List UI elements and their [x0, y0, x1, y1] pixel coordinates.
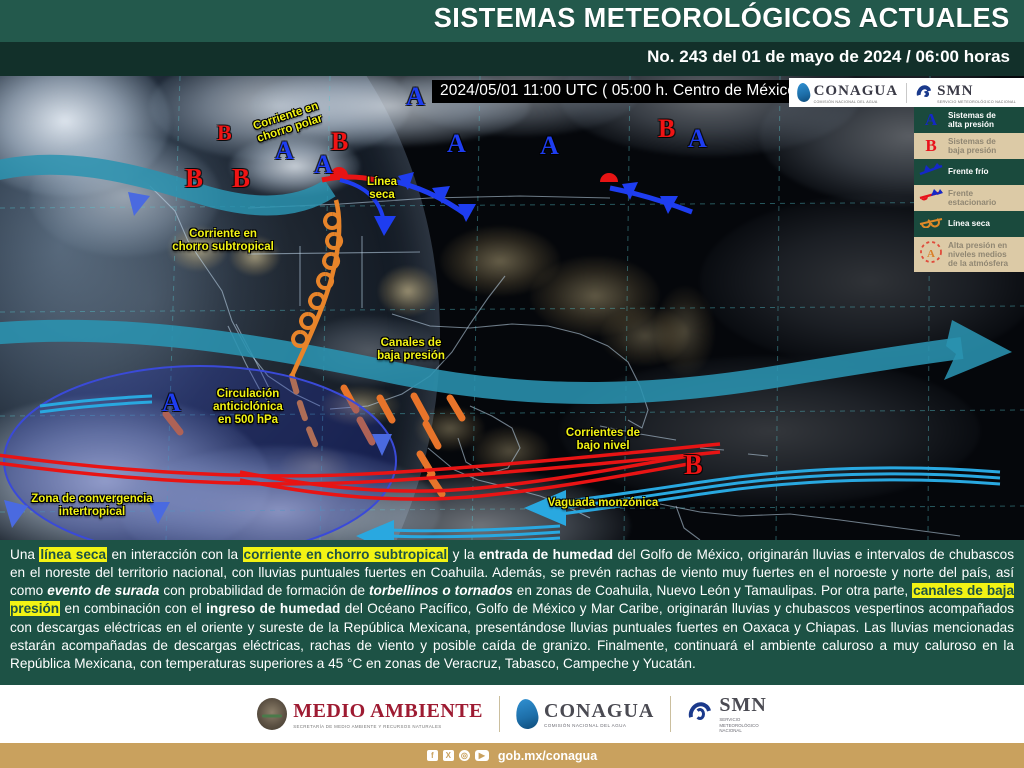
high-pressure-symbol: A	[314, 150, 333, 180]
high-pressure-symbol: A	[162, 388, 181, 418]
footer-smn-logo: SMN SERVICIO METEOROLÓGICO NACIONAL	[687, 694, 766, 734]
high-pressure-A-icon: A	[918, 110, 944, 130]
bulletin-number-date: No. 243 del 01 de mayo de 2024 / 06:00 h…	[647, 47, 1010, 67]
high-pressure-symbol: A	[275, 136, 294, 166]
low-level-currents-label: Corrientes de bajo nivel	[548, 427, 658, 453]
footer-smn-text: SMN	[719, 694, 766, 716]
mexican-eagle-icon	[257, 698, 287, 730]
legend-item-mid-level-high: A Alta presión en niveles medios de la a…	[914, 237, 1024, 272]
cold-front-icon	[918, 163, 944, 181]
high-pressure-symbol: A	[447, 129, 466, 159]
social-url-bar: f X ◎ ▶ gob.mx/conagua	[0, 743, 1024, 768]
cold-front-2	[610, 182, 692, 214]
high-pressure-symbol: A	[688, 124, 707, 154]
high-pressure-symbol: A	[540, 131, 559, 161]
conagua-logo-text: CONAGUA	[814, 83, 899, 99]
footer-conagua-logo: CONAGUA COMISIÓN NACIONAL DEL AGUA	[516, 699, 654, 729]
footer-divider	[670, 696, 671, 732]
low-pressure-symbol: B	[684, 450, 703, 482]
footer-smn-subtext: SERVICIO METEOROLÓGICO NACIONAL	[719, 717, 766, 734]
low-level-arrow-2	[356, 520, 394, 540]
smn-logo-text: SMN	[937, 83, 973, 99]
subtropical-jet-arrowhead	[944, 320, 1012, 380]
spiral-icon	[915, 83, 933, 103]
low-pressure-symbol: B	[331, 127, 348, 157]
x-twitter-icon[interactable]: X	[443, 750, 454, 761]
weather-bulletin-page: SISTEMAS METEOROLÓGICOS ACTUALES No. 243…	[0, 0, 1024, 768]
low-pressure-channels-label: Canales de baja presión	[356, 337, 466, 363]
instagram-icon[interactable]: ◎	[459, 750, 470, 761]
legend-item-cold-front: Frente frío	[914, 159, 1024, 185]
low-pressure-symbol: B	[232, 163, 250, 194]
low-pressure-B-icon: B	[918, 136, 944, 156]
map-vector-overlay	[0, 76, 1024, 540]
legend-label: Línea seca	[948, 219, 990, 228]
subtropical-jet-label: Corriente en chorro subtropical	[148, 228, 298, 254]
map-legend: A Sistemas de alta presión B Sistemas de…	[914, 107, 1024, 272]
mid-level-high-icon: A	[918, 240, 944, 269]
low-level-currents-2	[390, 526, 560, 540]
low-pressure-symbol: B	[658, 114, 675, 144]
monsoon-trough-label: Vaguada monzónica	[528, 497, 678, 510]
stationary-front-icon	[918, 189, 944, 207]
legend-label: Frente estacionario	[948, 189, 996, 207]
svg-text:A: A	[927, 248, 935, 260]
forecast-text-panel: Una línea seca en interacción con la cor…	[0, 540, 1024, 685]
footer-conagua-text: CONAGUA	[544, 700, 654, 722]
low-pressure-symbol: B	[185, 163, 203, 194]
legend-item-stationary-front: Frente estacionario	[914, 185, 1024, 211]
map-timestamp: 2024/05/01 11:00 UTC ( 05:00 h. Centro d…	[432, 80, 814, 103]
facebook-icon[interactable]: f	[427, 750, 438, 761]
legend-label: Sistemas de alta presión	[948, 111, 996, 129]
medio-ambiente-text: MEDIO AMBIENTE	[293, 700, 483, 722]
legend-item-dry-line: Línea seca	[914, 211, 1024, 237]
dry-line-label: Línea seca	[352, 176, 412, 202]
water-drop-icon	[795, 82, 811, 103]
high-pressure-symbol: A	[406, 82, 425, 112]
dry-line-icon	[918, 215, 944, 233]
legend-item-high-pressure: A Sistemas de alta presión	[914, 107, 1024, 133]
medio-ambiente-subtext: SECRETARÍA DE MEDIO AMBIENTE Y RECURSOS …	[293, 724, 483, 729]
footer-logo-bar: MEDIO AMBIENTE SECRETARÍA DE MEDIO AMBIE…	[0, 685, 1024, 743]
logo-divider	[906, 83, 907, 103]
legend-item-low-pressure: B Sistemas de baja presión	[914, 133, 1024, 159]
site-url[interactable]: gob.mx/conagua	[498, 749, 597, 763]
conagua-logo: CONAGUA COMISIÓN NACIONAL DEL AGUA	[797, 82, 899, 104]
anticyclone-arrow-n	[128, 192, 150, 216]
medio-ambiente-logo: MEDIO AMBIENTE SECRETARÍA DE MEDIO AMBIE…	[257, 698, 483, 730]
legend-label: Sistemas de baja presión	[948, 137, 996, 155]
legend-label: Alta presión en niveles medios de la atm…	[948, 241, 1008, 269]
youtube-icon[interactable]: ▶	[475, 750, 489, 761]
legend-label: Frente frío	[948, 167, 989, 176]
water-drop-icon	[514, 698, 540, 731]
footer-conagua-subtext: COMISIÓN NACIONAL DEL AGUA	[544, 723, 654, 728]
smn-logo: SMN SERVICIO METEOROLÓGICO NACIONAL	[915, 82, 1016, 104]
trough-arrowhead	[374, 216, 396, 236]
map-logo-bar: CONAGUA COMISIÓN NACIONAL DEL AGUA SMN S…	[789, 78, 1024, 107]
conagua-logo-subtext: COMISIÓN NACIONAL DEL AGUA	[814, 100, 899, 104]
spiral-icon	[687, 700, 713, 728]
satellite-weather-map[interactable]: Corriente en chorro polar Línea seca Cor…	[0, 76, 1024, 540]
smn-logo-subtext: SERVICIO METEOROLÓGICO NACIONAL	[937, 100, 1016, 104]
forecast-paragraph: Una línea seca en interacción con la cor…	[10, 546, 1014, 673]
anticyclonic-circulation-label: Circulación anticiclónica en 500 hPa	[190, 388, 306, 427]
footer-divider	[499, 696, 500, 732]
itcz-label: Zona de convergencia intertropical	[2, 493, 182, 519]
polar-jet-stream	[0, 165, 330, 206]
page-title: SISTEMAS METEOROLÓGICOS ACTUALES	[434, 2, 1010, 34]
